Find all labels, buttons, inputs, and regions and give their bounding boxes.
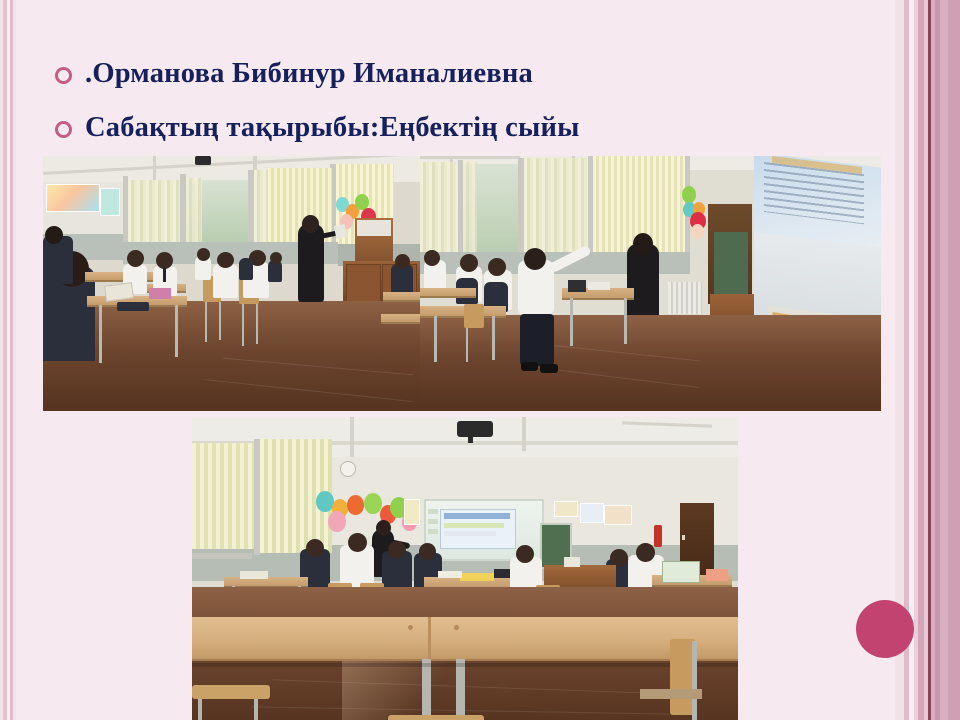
balloon [364,493,382,514]
bullet-item-1: Сабақтың тақырыбы:Еңбектің сыйы [55,106,855,150]
bullet-item-0: .Орманова Бибинур Иманалиевна [55,52,855,96]
presentation-slide: .Орманова Бибинур Иманалиевна Сабақтың т… [0,0,960,720]
wall-poster [100,188,120,216]
classroom-photo-top [43,156,881,411]
balloon [691,224,704,239]
slide-title-block: .Орманова Бибинур Иманалиевна Сабақтың т… [55,52,855,160]
wall-poster [46,184,100,212]
ring-bullet-icon [55,67,72,84]
wall-poster [554,501,578,517]
ceiling-projector-icon [457,421,493,437]
wall-poster [404,499,420,525]
decorative-dot [856,600,914,658]
ring-bullet-icon [55,121,72,138]
balloon [347,495,364,515]
wall-poster [604,505,632,525]
bullet-item-1-label: Сабақтың тақырыбы:Еңбектің сыйы [85,112,580,144]
wall-poster [580,503,604,523]
balloon [328,511,346,532]
classroom-photo-top-left [43,156,420,411]
bullet-item-0-label: .Орманова Бибинур Иманалиевна [85,58,533,90]
foreground-desk [192,617,738,661]
classroom-photo-bottom [192,417,738,720]
ceiling-projector-icon [195,156,211,165]
balloon [682,186,696,203]
classroom-photo-top-right [420,156,881,411]
